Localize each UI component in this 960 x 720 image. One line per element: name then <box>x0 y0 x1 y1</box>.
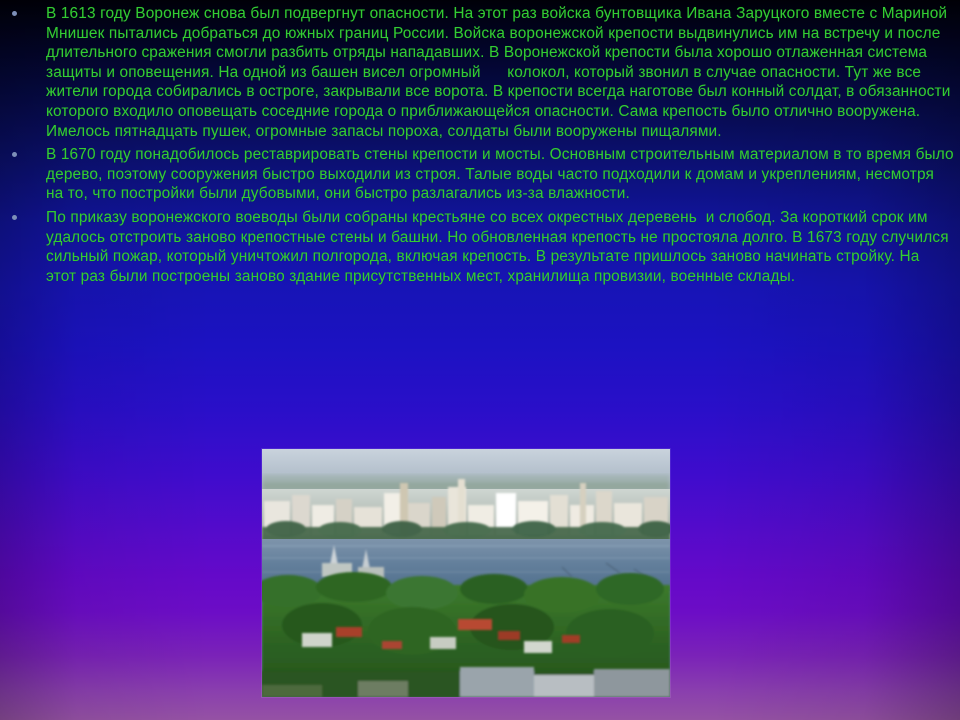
bullet-dot-icon <box>12 215 17 220</box>
bullet-paragraph-2: В 1670 году понадобилось реставрировать … <box>46 145 954 204</box>
bullet-dot-icon <box>12 11 17 16</box>
slide-content: В 1613 году Воронеж снова был подвергнут… <box>0 0 960 720</box>
bullet-list: В 1613 году Воронеж снова был подвергнут… <box>0 4 960 290</box>
list-item: В 1670 году понадобилось реставрировать … <box>0 145 960 204</box>
list-item: По приказу воронежского воеводы были соб… <box>0 208 960 286</box>
voronezh-cityscape-photo <box>262 449 670 697</box>
list-item: В 1613 году Воронеж снова был подвергнут… <box>0 4 960 141</box>
slide-canvas: В 1613 году Воронеж снова был подвергнут… <box>0 0 960 720</box>
cityscape-illustration <box>262 449 670 697</box>
bullet-dot-icon <box>12 152 17 157</box>
bullet-paragraph-3: По приказу воронежского воеводы были соб… <box>46 208 954 286</box>
bullet-paragraph-1: В 1613 году Воронеж снова был подвергнут… <box>46 4 954 141</box>
